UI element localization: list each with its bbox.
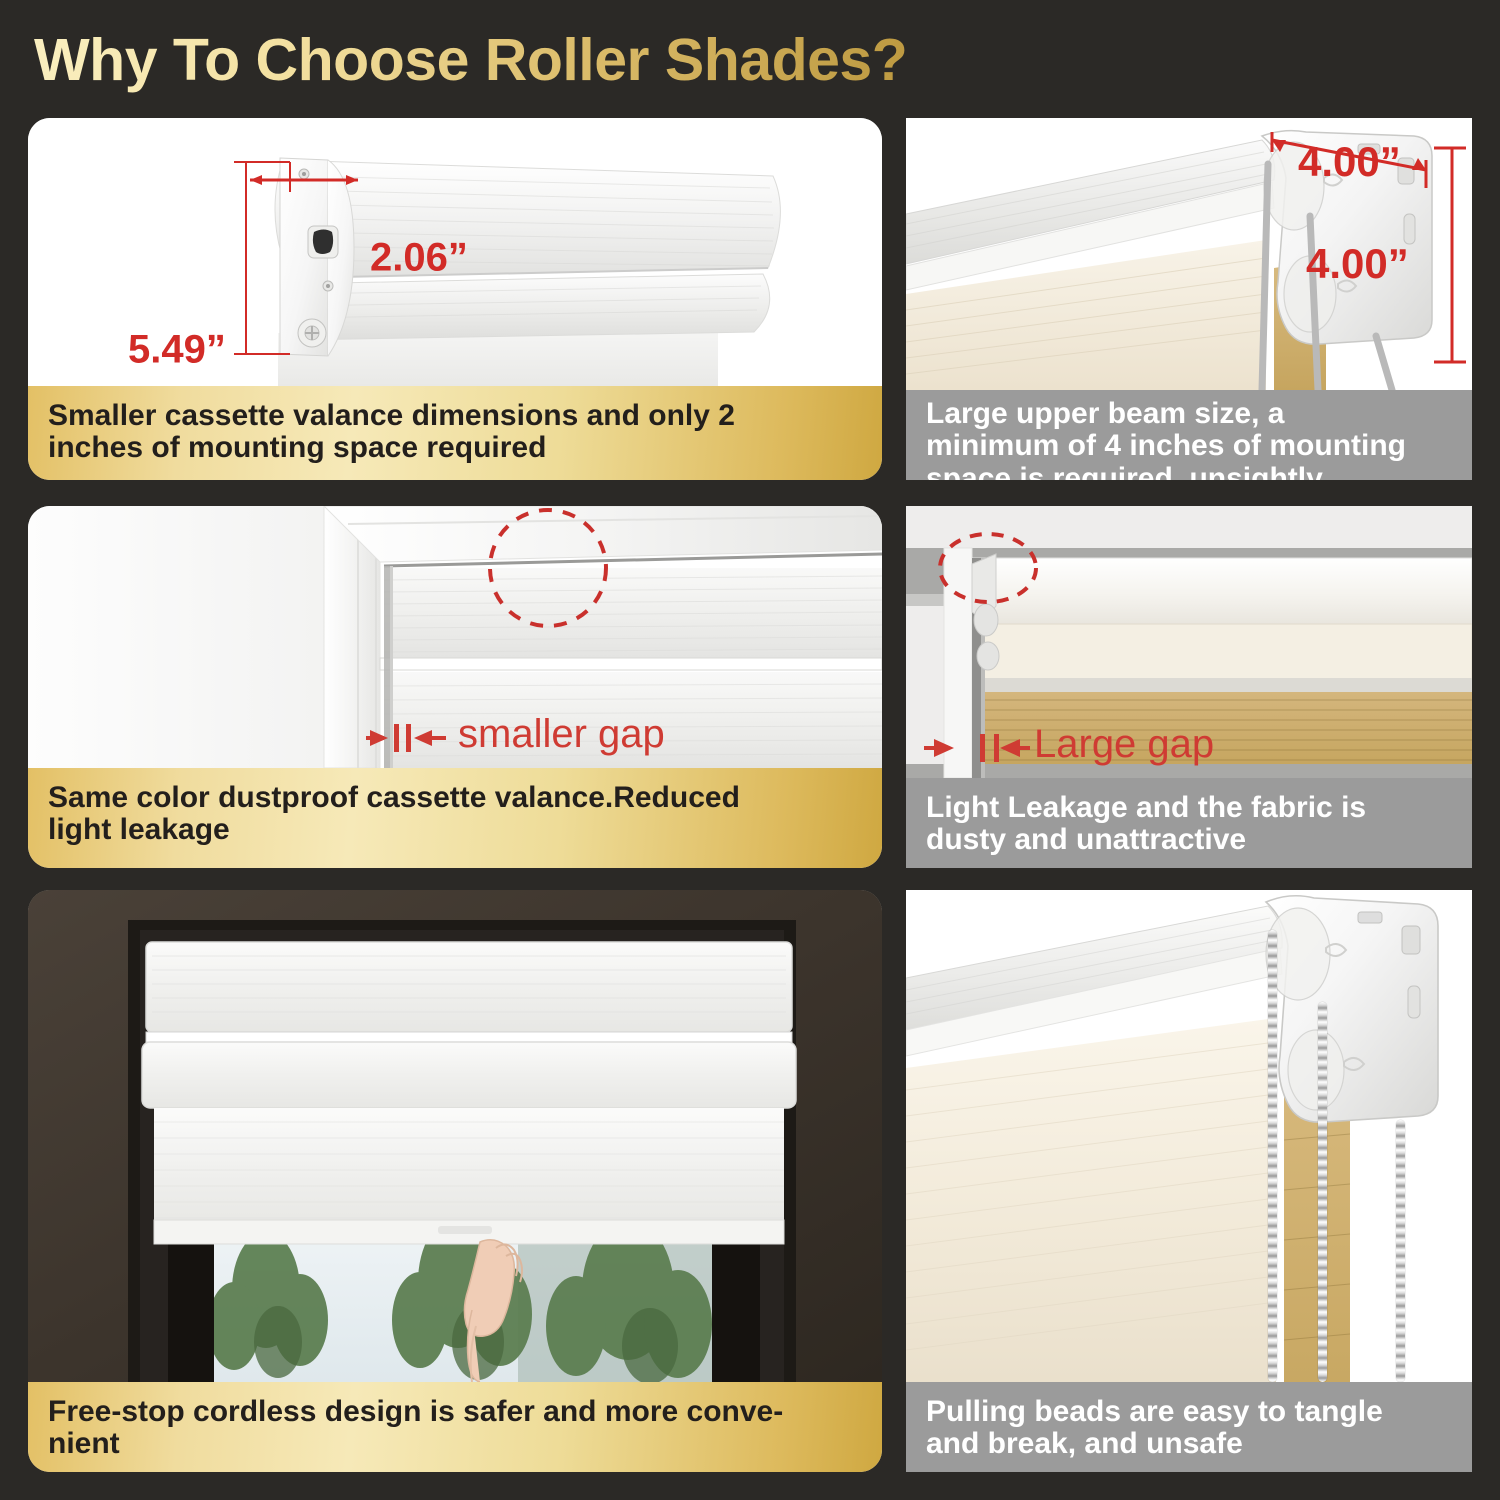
caption-line: and break, and unsafe xyxy=(926,1428,1383,1460)
bead-chain-shade-illustration xyxy=(906,890,1472,1382)
page-title: Why To Choose Roller Shades? xyxy=(34,26,907,94)
height-dimension-label: 5.49” xyxy=(128,328,226,373)
bead-chain xyxy=(1318,1002,1327,1382)
infographic-root: Why To Choose Roller Shades? xyxy=(0,0,1500,1500)
panel-cordless-design: Free-stop cordless design is safer and m… xyxy=(28,890,882,1472)
panel-smaller-cassette: 2.06” 5.49” Smaller cassette valance dim… xyxy=(28,118,882,480)
caption-line: Pulling beads are easy to tangle xyxy=(926,1396,1383,1428)
caption-line: inches of mounting space required xyxy=(48,432,735,464)
bead-chain xyxy=(1396,1120,1405,1382)
panel-3-photo: smaller gap xyxy=(28,506,882,768)
panel-light-leakage: Large gap Light Leakage and the fabric i… xyxy=(906,506,1472,868)
caption-line: nient xyxy=(48,1428,783,1460)
panel-2-photo: 4.00” 4.00” xyxy=(906,118,1472,390)
caption-line: space is required, unsightly xyxy=(926,463,1406,480)
panel-6-photo xyxy=(906,890,1472,1382)
panel-4-photo: Large gap xyxy=(906,506,1472,778)
panel-2-caption: Large upper beam size, a minimum of 4 in… xyxy=(906,390,1472,480)
bead-chain xyxy=(1268,930,1277,1382)
panel-pulling-beads: Pulling beads are easy to tangle and bre… xyxy=(906,890,1472,1472)
caption-line: minimum of 4 inches of mounting xyxy=(926,430,1406,462)
window-scene-illustration xyxy=(28,890,882,1382)
caption-line: Same color dustproof cassette valance.Re… xyxy=(48,782,740,814)
bracket-height-dimension-label: 4.00” xyxy=(1306,240,1409,288)
panel-5-caption: Free-stop cordless design is safer and m… xyxy=(28,1382,882,1472)
panel-1-photo: 2.06” 5.49” xyxy=(28,118,882,386)
bracket-width-dimension-label: 4.00” xyxy=(1298,138,1401,186)
depth-dimension-label: 2.06” xyxy=(370,236,468,281)
large-gap-label: Large gap xyxy=(1034,722,1214,767)
caption-line: Smaller cassette valance dimensions and … xyxy=(48,400,735,432)
panel-dustproof-cassette: smaller gap Same color dustproof cassett… xyxy=(28,506,882,868)
panel-4-caption: Light Leakage and the fabric is dusty an… xyxy=(906,778,1472,868)
panel-large-upper-beam: 4.00” 4.00” Large upper beam size, a min… xyxy=(906,118,1472,480)
caption-line: Large upper beam size, a xyxy=(926,398,1406,430)
panel-1-caption: Smaller cassette valance dimensions and … xyxy=(28,386,882,480)
caption-line: light leakage xyxy=(48,814,740,846)
panel-3-caption: Same color dustproof cassette valance.Re… xyxy=(28,768,882,868)
caption-line: Light Leakage and the fabric is xyxy=(926,792,1366,824)
panel-6-caption: Pulling beads are easy to tangle and bre… xyxy=(906,1382,1472,1472)
caption-line: Free-stop cordless design is safer and m… xyxy=(48,1396,783,1428)
white-cassette-window-illustration xyxy=(28,506,882,768)
panel-5-photo xyxy=(28,890,882,1382)
smaller-gap-label: smaller gap xyxy=(458,712,665,757)
caption-line: dusty and unattractive xyxy=(926,824,1366,856)
